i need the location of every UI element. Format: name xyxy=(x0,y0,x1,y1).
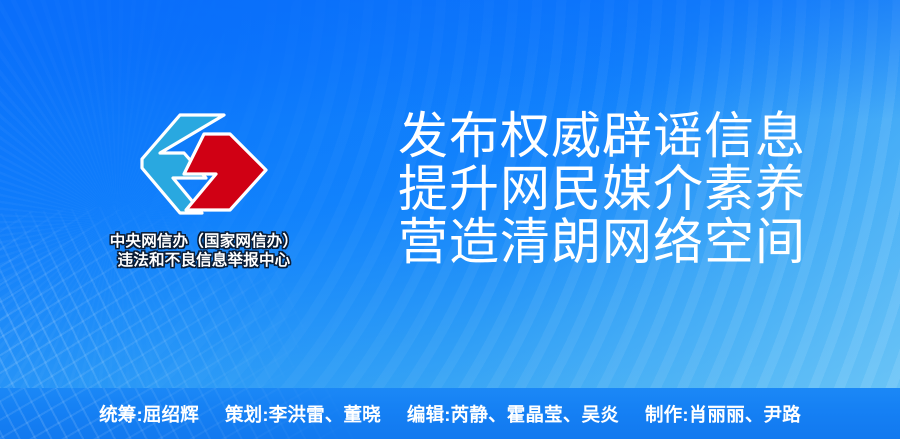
headline-block: 发布权威辟谣信息 提升网民媒介素养 营造清朗网络空间 xyxy=(398,110,818,269)
headline-line-1: 发布权威辟谣信息 xyxy=(398,110,818,163)
credit-editor: 编辑:芮静、霍晶莹、吴炎 xyxy=(407,401,619,427)
credit-planner: 策划:李洪雷、董晓 xyxy=(225,401,381,427)
headline-line-2: 提升网民媒介素养 xyxy=(398,163,818,216)
footer-credits-row: 统筹:屈绍辉 策划:李洪雷、董晓 编辑:芮静、霍晶莹、吴炎 制作:肖丽丽、尹路 xyxy=(0,388,900,439)
cyberspace-report-logo-icon xyxy=(140,112,268,224)
credit-producer: 统筹:屈绍辉 xyxy=(99,401,199,427)
logo-block: 中央网信办（国家网信办） 违法和不良信息举报中心 xyxy=(78,112,330,270)
logo-caption-line-2: 违法和不良信息举报中心 xyxy=(78,251,330,270)
credit-production: 制作:肖丽丽、尹路 xyxy=(645,401,801,427)
headline-line-3: 营造清朗网络空间 xyxy=(398,216,818,269)
footer-credits-bar: 统筹:屈绍辉 策划:李洪雷、董晓 编辑:芮静、霍晶莹、吴炎 制作:肖丽丽、尹路 xyxy=(0,388,900,439)
background-top-sheen xyxy=(0,0,900,120)
poster-canvas: 中央网信办（国家网信办） 违法和不良信息举报中心 发布权威辟谣信息 提升网民媒介… xyxy=(0,0,900,439)
logo-caption-line-1: 中央网信办（国家网信办） xyxy=(78,232,330,251)
